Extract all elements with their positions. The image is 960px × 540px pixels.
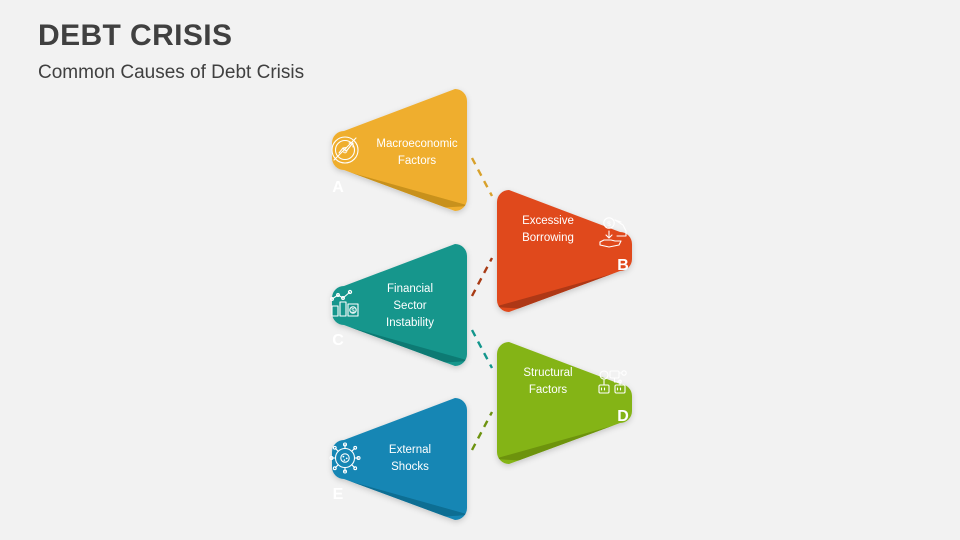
causes-diagram: $ A Macroeconomic Factors <box>0 0 960 540</box>
node-c-label-line1: Financial <box>387 283 433 295</box>
node-c-label-line3: Instability <box>386 317 434 329</box>
node-b-label-line2: Borrowing <box>522 232 574 244</box>
node-d-label-line2: Factors <box>529 384 568 396</box>
node-d-label-line1: Structural <box>523 367 572 379</box>
connector-c-b <box>472 258 492 296</box>
node-a-label-line1: Macroeconomic <box>376 138 457 150</box>
node-c-letter: C <box>332 332 344 349</box>
node-e-body[interactable] <box>332 398 467 520</box>
node-e-letter: E <box>333 486 344 503</box>
node-d-body[interactable] <box>497 342 632 464</box>
node-d-letter: D <box>617 408 629 425</box>
connector-e-d <box>472 412 492 450</box>
node-d[interactable] <box>494 342 644 468</box>
node-e-label-line2: Shocks <box>391 461 429 473</box>
node-c-label-line2: Sector <box>393 300 426 312</box>
node-a-body[interactable] <box>332 89 467 211</box>
slide: DEBT CRISIS Common Causes of Debt Crisis <box>0 0 960 540</box>
node-a-letter: A <box>332 179 344 196</box>
connector-a-b <box>472 158 492 196</box>
node-b-label-line1: Excessive <box>522 215 574 227</box>
node-e-label-line1: External <box>389 444 431 456</box>
node-b-body[interactable] <box>497 190 632 312</box>
node-b-letter: B <box>617 257 629 274</box>
node-b[interactable] <box>494 190 644 316</box>
node-a-label-line2: Factors <box>398 155 437 167</box>
node-a-icon: $ <box>332 137 358 163</box>
node-b-icon-dollar: $ <box>607 221 611 228</box>
node-a-icon-dollar: $ <box>343 145 348 155</box>
connector-c-d <box>472 330 492 368</box>
